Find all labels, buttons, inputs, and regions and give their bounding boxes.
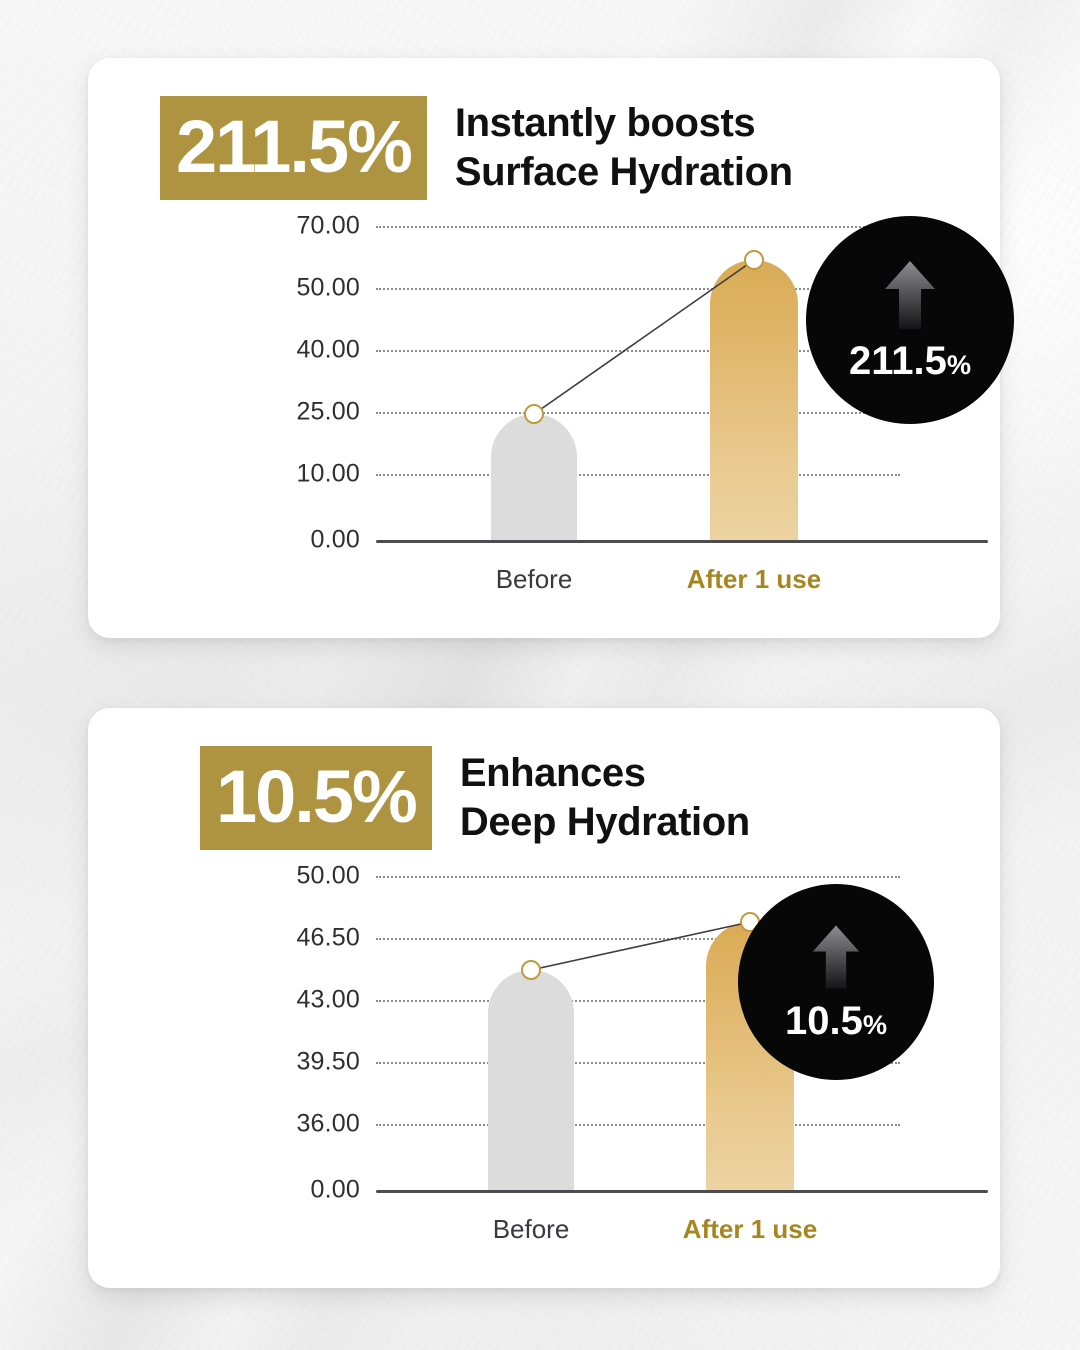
y-tick-label: 50.00	[296, 862, 360, 891]
badge-value: 211.5	[849, 339, 947, 383]
badge-label: 10.5%	[785, 1001, 887, 1041]
x-tick-label-before: Before	[496, 564, 573, 595]
up-arrow-icon	[811, 923, 861, 991]
percent-chip: 10.5%	[200, 746, 432, 850]
x-axis-labels: Before After 1 use	[376, 1214, 988, 1254]
y-tick-label: 70.00	[296, 212, 360, 241]
data-point-marker-before	[521, 960, 541, 980]
x-tick-label-after: After 1 use	[687, 564, 821, 595]
stat-card-deep-hydration: 10.5% Enhances Deep Hydration 50.00 46.5…	[88, 708, 1000, 1288]
bar-chart-surface-hydration: 70.00 50.00 40.00 25.00 10.00 0.00	[88, 212, 1000, 612]
y-tick-label: 50.00	[296, 274, 360, 303]
y-tick-label: 0.00	[311, 1176, 360, 1205]
y-axis-labels: 50.00 46.50 43.00 39.50 36.00 0.00	[88, 862, 360, 1192]
stat-card-surface-hydration: 211.5% Instantly boosts Surface Hydratio…	[88, 58, 1000, 638]
y-tick-label: 36.00	[296, 1110, 360, 1139]
badge-unit: %	[947, 349, 971, 380]
increase-badge: 211.5%	[806, 216, 1014, 424]
x-axis-labels: Before After 1 use	[376, 564, 988, 604]
y-tick-label: 25.00	[296, 398, 360, 427]
y-tick-label: 39.50	[296, 1048, 360, 1077]
x-tick-label-after: After 1 use	[683, 1214, 817, 1245]
up-arrow-icon	[883, 259, 937, 331]
y-tick-label: 46.50	[296, 924, 360, 953]
card-header: 10.5% Enhances Deep Hydration	[88, 708, 1000, 850]
badge-unit: %	[863, 1009, 887, 1040]
y-tick-label: 40.00	[296, 336, 360, 365]
plot-area	[376, 212, 900, 542]
data-point-marker-after	[744, 250, 764, 270]
x-tick-label-before: Before	[493, 1214, 570, 1245]
data-point-marker-before	[524, 404, 544, 424]
card-title: Instantly boosts Surface Hydration	[455, 99, 793, 197]
badge-value: 10.5	[785, 999, 863, 1043]
card-header: 211.5% Instantly boosts Surface Hydratio…	[88, 58, 1000, 200]
increase-badge: 10.5%	[738, 884, 934, 1080]
y-tick-label: 10.00	[296, 460, 360, 489]
percent-chip: 211.5%	[160, 96, 427, 200]
y-axis-labels: 70.00 50.00 40.00 25.00 10.00 0.00	[88, 212, 360, 542]
y-tick-label: 0.00	[311, 526, 360, 555]
bar-chart-deep-hydration: 50.00 46.50 43.00 39.50 36.00 0.00	[88, 862, 1000, 1262]
y-tick-label: 43.00	[296, 986, 360, 1015]
card-title: Enhances Deep Hydration	[460, 749, 750, 847]
badge-label: 211.5%	[849, 341, 971, 381]
